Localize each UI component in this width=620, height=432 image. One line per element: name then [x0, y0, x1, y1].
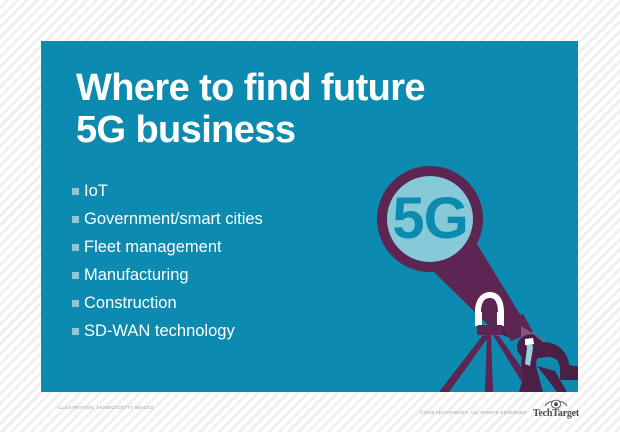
list-item: Manufacturing: [72, 261, 402, 289]
list-item-label: SD-WAN technology: [84, 322, 235, 341]
bullet-square-icon: [72, 188, 79, 195]
bullet-square-icon: [72, 300, 79, 307]
list-item: Fleet management: [72, 233, 402, 261]
bullet-list: IoT Government/smart cities Fleet manage…: [72, 177, 402, 345]
bullet-square-icon: [72, 216, 79, 223]
list-item-label: Fleet management: [84, 238, 222, 257]
title-line-1: Where to find future: [76, 67, 506, 109]
techtarget-wordmark: TechTarget: [533, 409, 579, 419]
list-item: IoT: [72, 177, 402, 205]
page-root: Where to find future 5G business IoT Gov…: [0, 0, 620, 432]
list-item-label: IoT: [84, 182, 108, 201]
bullet-square-icon: [72, 272, 79, 279]
techtarget-logo[interactable]: TechTarget: [533, 399, 579, 419]
bullet-square-icon: [72, 328, 79, 335]
footer-right-group: ©2018 TECHTARGET. ALL RIGHTS RESERVED Te…: [420, 399, 579, 419]
list-item: Government/smart cities: [72, 205, 402, 233]
illustration-credit: ILLUSTRATION: AKINDO/GETTY IMAGES: [58, 405, 154, 410]
list-item: Construction: [72, 289, 402, 317]
copyright-notice: ©2018 TECHTARGET. ALL RIGHTS RESERVED: [420, 410, 527, 419]
list-item-label: Government/smart cities: [84, 210, 263, 229]
page-title: Where to find future 5G business: [76, 67, 506, 151]
infographic-card: Where to find future 5G business IoT Gov…: [41, 41, 578, 392]
lens-5g-label: 5G: [392, 186, 467, 251]
bullet-square-icon: [72, 244, 79, 251]
title-line-2: 5G business: [76, 109, 506, 151]
telescope-5g-illustration: 5G: [371, 166, 578, 392]
list-item-label: Manufacturing: [84, 266, 189, 285]
list-item: SD-WAN technology: [72, 317, 402, 345]
list-item-label: Construction: [84, 294, 177, 313]
